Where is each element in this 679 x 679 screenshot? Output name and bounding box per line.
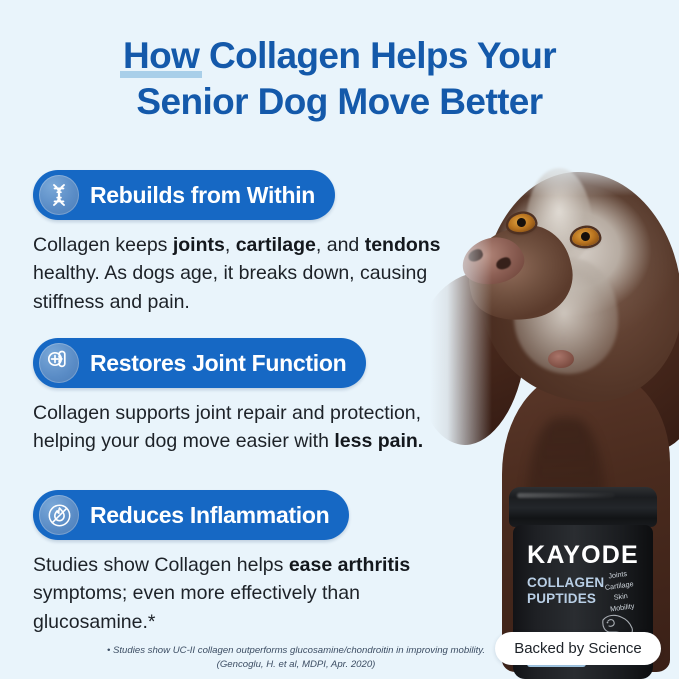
feature-body-text: , and [316, 234, 365, 256]
title-highlight: How [123, 33, 199, 79]
feature-badge-1[interactable]: Rebuilds from Within [33, 170, 335, 220]
feature-badge-3[interactable]: Reduces Inflammation [33, 490, 349, 540]
feature-body-text: Collagen keeps [33, 234, 173, 256]
feature-block-reduces-inflammation: Reduces Inflammation Studies show Collag… [33, 490, 485, 636]
feature-body-emphasis: joints [173, 234, 225, 256]
dna-helix-icon [39, 175, 79, 215]
feature-body-1: Collagen keeps joints, cartilage, and te… [33, 231, 485, 316]
page-title: How Collagen Helps Your Senior Dog Move … [0, 33, 679, 125]
feature-body-emphasis: less pain. [334, 430, 423, 452]
page-title-line-2: Senior Dog Move Better [0, 79, 679, 125]
product-benefits-list: JointsCartilageSkinMobility [594, 566, 646, 617]
product-subtitle-line-1: COLLAGEN [527, 575, 604, 591]
jar-lid [509, 487, 657, 527]
title-line-1-rest: Collagen Helps Your [199, 35, 556, 76]
feature-badge-3-label: Reduces Inflammation [90, 502, 329, 529]
backed-by-science-label: Backed by Science [514, 640, 642, 657]
feature-body-3: Studies show Collagen helps ease arthrit… [33, 551, 485, 636]
product-brand: KAYODE [513, 541, 653, 570]
feature-body-text: healthy. As dogs age, it breaks down, ca… [33, 262, 427, 312]
bone-plus-icon [39, 343, 79, 383]
product-subtitle: COLLAGEN PUPTIDES [527, 575, 604, 607]
backed-by-science-badge[interactable]: Backed by Science [495, 632, 661, 665]
feature-body-2: Collagen supports joint repair and prote… [33, 399, 485, 456]
feature-badge-1-label: Rebuilds from Within [90, 182, 315, 209]
feature-body-emphasis: ease arthritis [289, 554, 410, 576]
feature-body-text: , [225, 234, 236, 256]
feature-body-text: symptoms; even more effectively than glu… [33, 582, 360, 632]
feature-body-emphasis: tendons [365, 234, 441, 256]
feature-body-emphasis: cartilage [236, 234, 316, 256]
no-flame-icon [39, 495, 79, 535]
dog-lip [548, 350, 574, 368]
product-subtitle-line-2: PUPTIDES [527, 591, 604, 607]
footnote-citation: • Studies show UC-II collagen outperform… [96, 644, 496, 673]
page-title-line-1: How Collagen Helps Your [0, 33, 679, 79]
title-highlight-word: How [123, 35, 199, 76]
feature-block-restores-joint-function: Restores Joint Function Collagen support… [33, 338, 485, 456]
infographic-canvas: How Collagen Helps Your Senior Dog Move … [0, 0, 679, 679]
feature-body-text: Studies show Collagen helps [33, 554, 289, 576]
feature-badge-2[interactable]: Restores Joint Function [33, 338, 366, 388]
feature-block-rebuilds-from-within: Rebuilds from Within Collagen keeps join… [33, 170, 485, 316]
feature-badge-2-label: Restores Joint Function [90, 350, 346, 377]
